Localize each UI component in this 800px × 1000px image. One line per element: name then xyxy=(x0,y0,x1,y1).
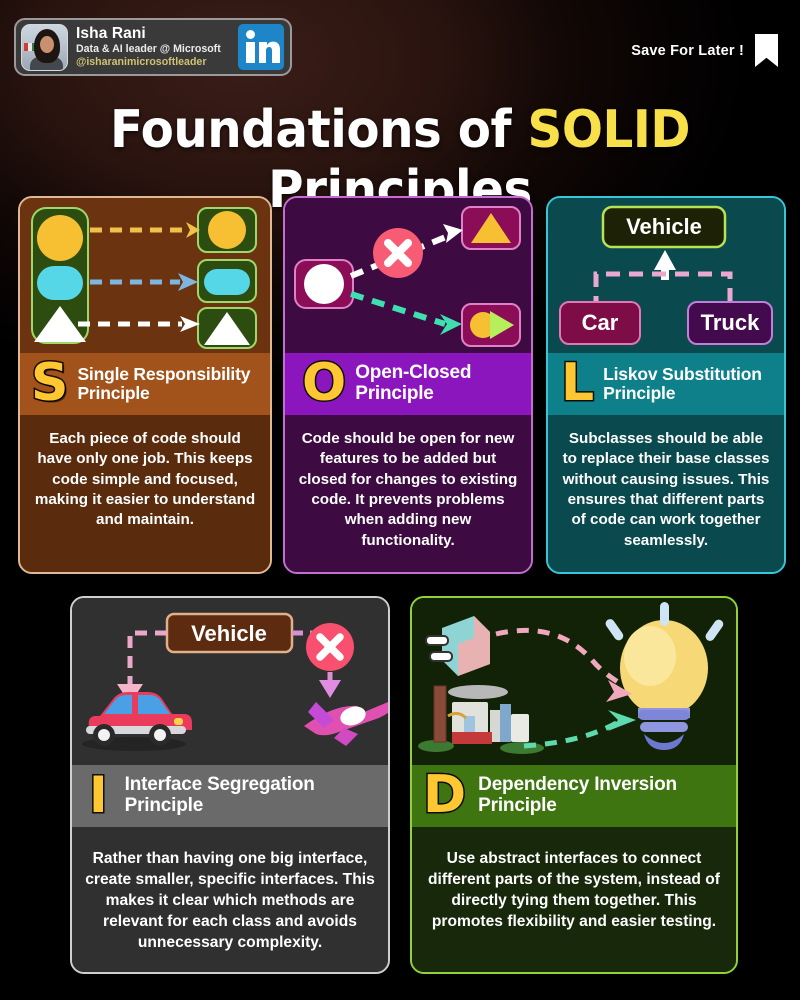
open-closed-diagram xyxy=(285,198,531,353)
profile-handle: @isharanimicrosoftleader xyxy=(76,57,231,68)
card-o-illustration xyxy=(285,198,531,353)
card-s-body: Each piece of code should have only one … xyxy=(20,415,270,572)
card-i-body: Rather than having one big interface, cr… xyxy=(72,827,388,972)
card-s-illustration xyxy=(20,198,270,353)
card-l-title: Liskov Substitution Principle xyxy=(603,365,776,403)
header: Isha Rani Data & AI leader @ Microsoft @… xyxy=(0,0,800,92)
bookmark-icon[interactable] xyxy=(755,34,778,67)
plug-icon xyxy=(426,616,490,676)
card-l-illustration: Vehicle Car Truck xyxy=(548,198,784,353)
card-o-band: O Open-Closed Principle xyxy=(285,353,531,415)
card-d-title: Dependency Inversion Principle xyxy=(478,775,728,816)
card-d-letter: D xyxy=(423,770,466,821)
card-single-responsibility[interactable]: S Single Responsibility Principle Each p… xyxy=(18,196,272,574)
card-dependency-inversion[interactable]: D Dependency Inversion Principle Use abs… xyxy=(410,596,738,974)
card-l-letter: L xyxy=(561,358,594,409)
i-base-label: Vehicle xyxy=(191,621,267,646)
card-o-body: Code should be open for new features to … xyxy=(285,415,531,572)
profile-role: Data & AI leader @ Microsoft xyxy=(76,44,231,55)
l-base-label: Vehicle xyxy=(626,214,702,239)
profile-name: Isha Rani xyxy=(76,26,231,42)
card-d-illustration xyxy=(412,598,736,765)
card-o-title: Open-Closed Principle xyxy=(355,363,523,404)
card-l-band: L Liskov Substitution Principle xyxy=(548,353,784,415)
card-s-band: S Single Responsibility Principle xyxy=(20,353,270,415)
save-label: Save For Later ! xyxy=(631,43,744,59)
card-open-closed[interactable]: O Open-Closed Principle Code should be o… xyxy=(283,196,533,574)
card-d-body: Use abstract interfaces to connect diffe… xyxy=(412,827,736,972)
card-i-illustration: Vehicle xyxy=(72,598,388,765)
card-liskov-substitution[interactable]: Vehicle Car Truck L Liskov Substitution … xyxy=(546,196,786,574)
airplane-icon xyxy=(304,701,388,746)
card-interface-segregation[interactable]: Vehicle xyxy=(70,596,390,974)
lightbulb-icon xyxy=(604,602,725,750)
traffic-light-diagram xyxy=(20,198,270,353)
card-s-title: Single Responsibility Principle xyxy=(77,365,262,403)
linkedin-icon[interactable] xyxy=(238,24,284,70)
inheritance-tree-diagram: Vehicle Car Truck xyxy=(548,198,784,353)
card-i-letter: I xyxy=(89,771,108,820)
l-sub-1-label: Car xyxy=(582,310,619,335)
profile-badge[interactable]: Isha Rani Data & AI leader @ Microsoft @… xyxy=(14,18,292,76)
title-highlight: SOLID xyxy=(527,100,690,160)
car-icon xyxy=(82,692,192,751)
card-s-letter: S xyxy=(31,358,68,409)
interface-segregation-diagram: Vehicle xyxy=(72,598,388,765)
card-o-letter: O xyxy=(302,358,346,409)
card-i-band: I Interface Segregation Principle xyxy=(72,765,388,827)
avatar xyxy=(21,24,68,71)
l-sub-2-label: Truck xyxy=(701,310,760,335)
card-l-body: Subclasses should be able to replace the… xyxy=(548,415,784,572)
card-i-title: Interface Segregation Principle xyxy=(125,775,380,816)
save-for-later[interactable]: Save For Later ! xyxy=(631,34,778,67)
dependency-inversion-diagram xyxy=(412,598,736,765)
card-d-band: D Dependency Inversion Principle xyxy=(412,765,736,827)
title-part-1: Foundations of xyxy=(110,100,527,160)
infographic-page: Isha Rani Data & AI leader @ Microsoft @… xyxy=(0,0,800,1000)
